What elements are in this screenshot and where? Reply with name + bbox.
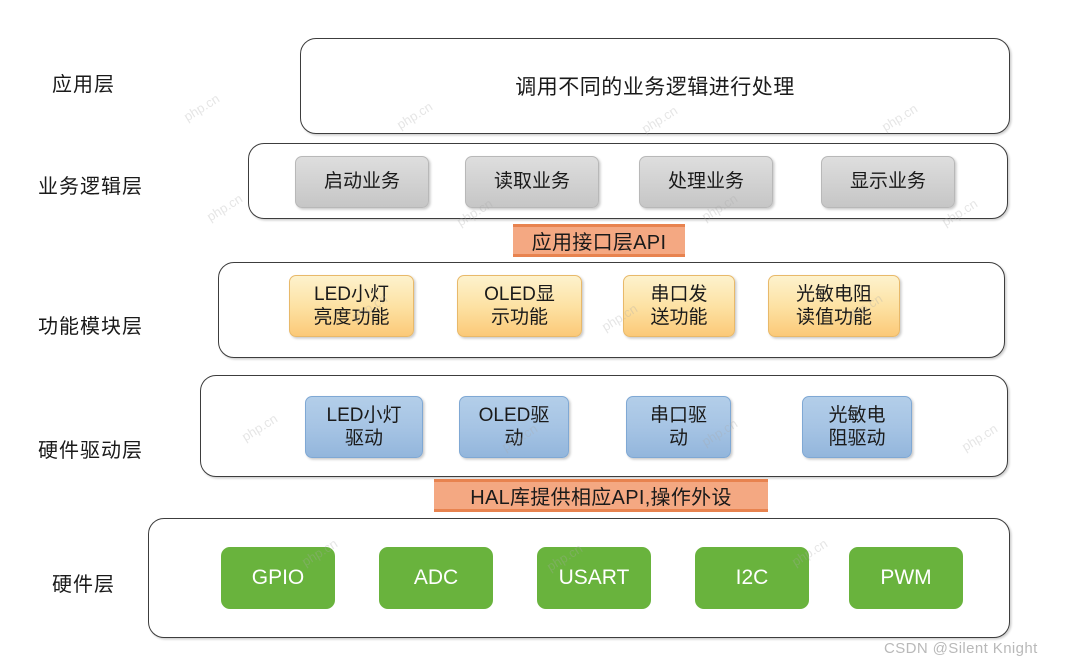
hardware-node-usart[interactable]: USART xyxy=(537,547,651,609)
layer-label-hardware: 硬件层 xyxy=(52,568,115,597)
business-node-display[interactable]: 显示业务 xyxy=(821,156,955,208)
api-band-app-interface: 应用接口层API xyxy=(513,224,685,257)
hardware-node-pwm[interactable]: PWM xyxy=(849,547,963,609)
tile-watermark: php.cn xyxy=(181,91,222,124)
function-node-led-brightness[interactable]: LED小灯 亮度功能 xyxy=(289,275,414,337)
api-band-hal: HAL库提供相应API,操作外设 xyxy=(434,479,768,512)
business-node-read[interactable]: 读取业务 xyxy=(465,156,599,208)
csdn-watermark: CSDN @Silent Knight xyxy=(884,640,1038,657)
function-node-uart-send[interactable]: 串口发 送功能 xyxy=(623,275,735,337)
driver-node-photoresistor[interactable]: 光敏电 阻驱动 xyxy=(802,396,912,458)
layer-container-function-module: LED小灯 亮度功能 OLED显 示功能 串口发 送功能 光敏电阻 读值功能 xyxy=(218,262,1005,358)
layer-container-application: 调用不同的业务逻辑进行处理 xyxy=(300,38,1010,134)
function-node-oled-display[interactable]: OLED显 示功能 xyxy=(457,275,582,337)
layer-label-hardware-driver: 硬件驱动层 xyxy=(38,434,143,463)
function-node-photoresistor-read[interactable]: 光敏电阻 读值功能 xyxy=(768,275,900,337)
layer-container-hardware-driver: LED小灯 驱动 OLED驱 动 串口驱 动 光敏电 阻驱动 xyxy=(200,375,1008,477)
business-node-process[interactable]: 处理业务 xyxy=(639,156,773,208)
layer-label-application: 应用层 xyxy=(52,68,115,97)
layer-container-hardware: GPIO ADC USART I2C PWM xyxy=(148,518,1010,638)
hardware-node-adc[interactable]: ADC xyxy=(379,547,493,609)
business-node-start[interactable]: 启动业务 xyxy=(295,156,429,208)
hardware-node-gpio[interactable]: GPIO xyxy=(221,547,335,609)
driver-node-uart[interactable]: 串口驱 动 xyxy=(626,396,731,458)
tile-watermark: php.cn xyxy=(204,191,245,224)
driver-node-oled[interactable]: OLED驱 动 xyxy=(459,396,569,458)
architecture-diagram: php.cn php.cn php.cn php.cn php.cn php.c… xyxy=(0,0,1080,668)
driver-node-led[interactable]: LED小灯 驱动 xyxy=(305,396,423,458)
hardware-node-i2c[interactable]: I2C xyxy=(695,547,809,609)
layer-label-function-module: 功能模块层 xyxy=(38,310,143,339)
layer-label-business-logic: 业务逻辑层 xyxy=(38,170,143,199)
application-layer-caption: 调用不同的业务逻辑进行处理 xyxy=(515,71,795,101)
layer-container-business-logic: 启动业务 读取业务 处理业务 显示业务 xyxy=(248,143,1008,219)
